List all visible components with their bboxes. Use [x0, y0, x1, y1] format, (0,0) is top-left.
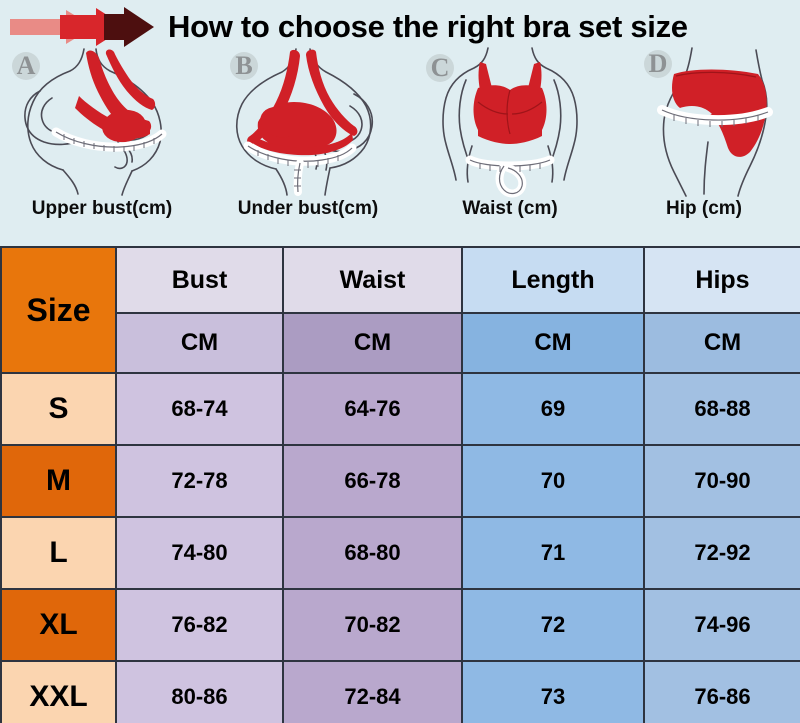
cell-length: 71: [462, 517, 644, 589]
table-row: XXL 80-86 72-84 73 76-86: [1, 661, 800, 723]
column-header-length: Length: [462, 247, 644, 313]
cell-hips: 74-96: [644, 589, 800, 661]
illustration-panels: A: [0, 46, 800, 246]
illustration-panel-under-bust: B: [204, 46, 412, 246]
panel-caption-upper-bust: Upper bust(cm): [32, 198, 172, 220]
panel-caption-hip: Hip (cm): [666, 198, 742, 220]
table-row: XL 76-82 70-82 72 74-96: [1, 589, 800, 661]
table-unit-row: CM CM CM CM: [1, 313, 800, 373]
cell-length: 73: [462, 661, 644, 723]
upper-bust-measure-illustration: [0, 46, 204, 198]
size-chart-page: How to choose the right bra set size A: [0, 0, 800, 723]
cell-hips: 70-90: [644, 445, 800, 517]
cell-bust: 74-80: [116, 517, 283, 589]
cell-waist: 68-80: [283, 517, 462, 589]
cell-bust: 76-82: [116, 589, 283, 661]
cell-length: 70: [462, 445, 644, 517]
column-header-waist: Waist: [283, 247, 462, 313]
triple-arrow-right-icon: [8, 5, 168, 49]
cell-size: XXL: [1, 661, 116, 723]
table-header-row: Size Bust Waist Length Hips: [1, 247, 800, 313]
cell-length: 69: [462, 373, 644, 445]
cell-hips: 68-88: [644, 373, 800, 445]
cell-waist: 64-76: [283, 373, 462, 445]
illustration-banner: How to choose the right bra set size A: [0, 0, 800, 246]
unit-cell-waist: CM: [283, 313, 462, 373]
unit-cell-bust: CM: [116, 313, 283, 373]
column-header-size: Size: [1, 247, 116, 373]
table-row: L 74-80 68-80 71 72-92: [1, 517, 800, 589]
table-row: S 68-74 64-76 69 68-88: [1, 373, 800, 445]
illustration-panel-waist: C: [412, 46, 608, 246]
unit-cell-length: CM: [462, 313, 644, 373]
size-table-wrapper: Size Bust Waist Length Hips CM CM CM CM …: [0, 246, 800, 723]
cell-hips: 76-86: [644, 661, 800, 723]
column-header-hips: Hips: [644, 247, 800, 313]
panel-caption-under-bust: Under bust(cm): [238, 198, 378, 220]
title-row: How to choose the right bra set size: [0, 4, 800, 50]
waist-measure-illustration: [412, 46, 608, 198]
unit-cell-hips: CM: [644, 313, 800, 373]
page-title: How to choose the right bra set size: [168, 9, 688, 45]
cell-bust: 72-78: [116, 445, 283, 517]
panel-caption-waist: Waist (cm): [462, 198, 557, 220]
cell-bust: 80-86: [116, 661, 283, 723]
cell-length: 72: [462, 589, 644, 661]
under-bust-measure-illustration: [204, 46, 412, 198]
cell-bust: 68-74: [116, 373, 283, 445]
cell-waist: 72-84: [283, 661, 462, 723]
cell-waist: 70-82: [283, 589, 462, 661]
cell-size: S: [1, 373, 116, 445]
size-chart-table: Size Bust Waist Length Hips CM CM CM CM …: [0, 246, 800, 723]
illustration-panel-hip: D: [608, 46, 800, 246]
table-row: M 72-78 66-78 70 70-90: [1, 445, 800, 517]
column-header-bust: Bust: [116, 247, 283, 313]
cell-hips: 72-92: [644, 517, 800, 589]
cell-size: L: [1, 517, 116, 589]
cell-size: M: [1, 445, 116, 517]
cell-size: XL: [1, 589, 116, 661]
illustration-panel-upper-bust: A: [0, 46, 204, 246]
cell-waist: 66-78: [283, 445, 462, 517]
hip-measure-illustration: [608, 46, 800, 198]
